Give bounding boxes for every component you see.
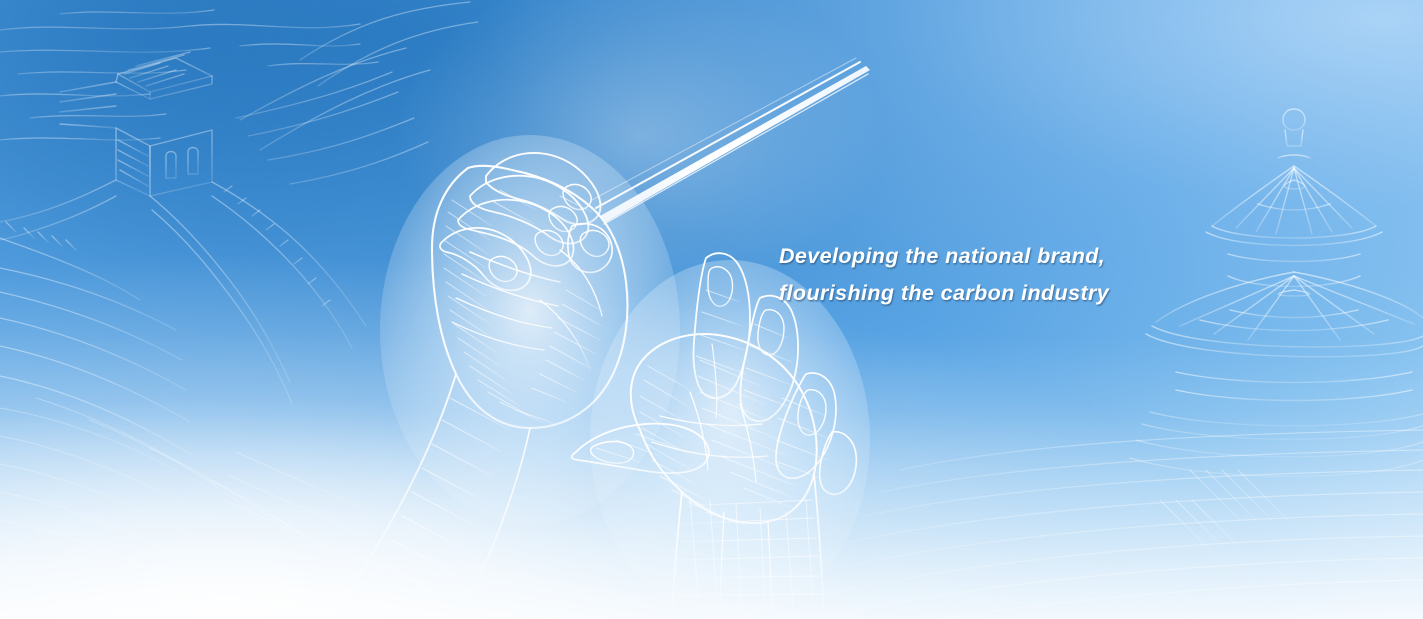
hero-banner: Developing the national brand, flourishi…	[0, 0, 1423, 619]
caption-line-1: Developing the national brand,	[779, 238, 1199, 275]
banner-caption: Developing the national brand, flourishi…	[779, 238, 1199, 312]
conductor-hands-icon	[0, 0, 1423, 619]
caption-line-2: flourishing the carbon industry	[779, 275, 1199, 312]
conductor-baton-shape	[592, 58, 870, 224]
